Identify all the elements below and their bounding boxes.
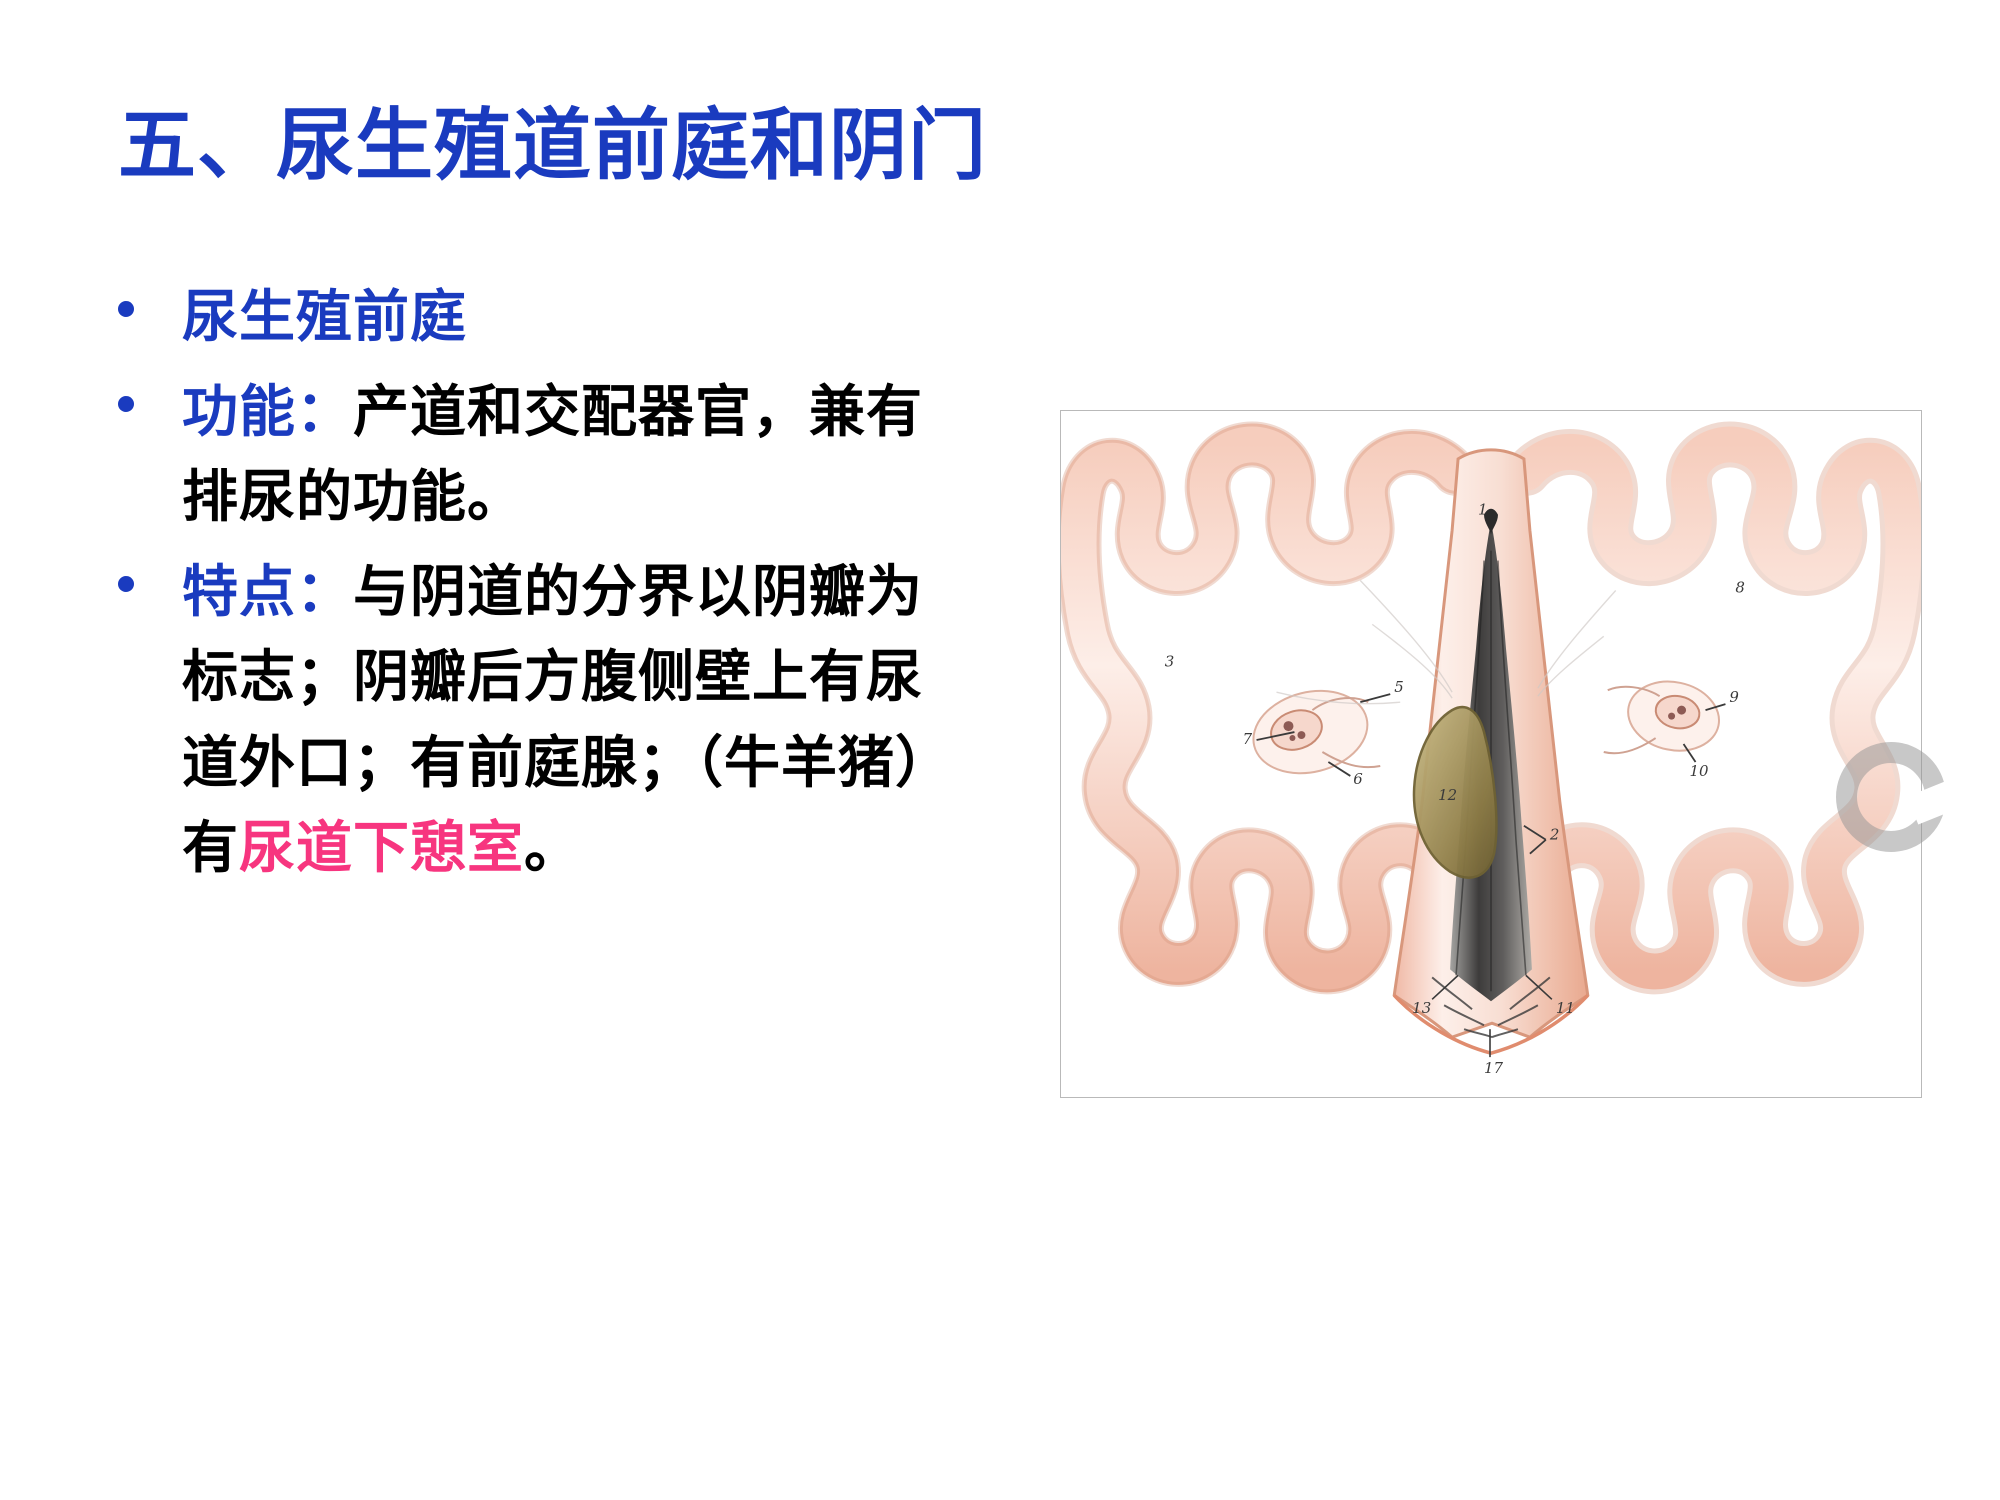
figure-label: 9 — [1729, 688, 1739, 706]
bullet-list: 尿生殖前庭 功能：产道和交配器官，兼有排尿的功能。 特点：与阴道的分界以阴瓣为标… — [118, 275, 978, 901]
page-title: 五、尿生殖道前庭和阴门 — [118, 104, 1418, 190]
figure-label: 8 — [1735, 578, 1745, 596]
list-item-label: 尿生殖前庭 — [182, 285, 467, 350]
bullet-dot-icon — [118, 275, 182, 322]
figure-label: 10 — [1690, 762, 1710, 780]
figure-label: 2 — [1549, 826, 1560, 844]
figure-label: 5 — [1394, 678, 1404, 696]
figure-label: 6 — [1353, 770, 1363, 788]
figure-label: 3 — [1165, 652, 1175, 670]
list-item-text: 功能：产道和交配器官，兼有排尿的功能。 — [182, 370, 978, 540]
figure-label: 13 — [1412, 999, 1431, 1017]
list-item-highlight: 尿道下憩室 — [239, 816, 524, 881]
figure-label: 7 — [1243, 730, 1253, 748]
list-item: 尿生殖前庭 — [118, 275, 978, 360]
uterus-anatomy-illustration: 5 7 6 3 9 10 8 — [1061, 411, 1921, 1097]
bullet-dot-icon — [118, 550, 182, 597]
bullet-dot-icon — [118, 370, 182, 417]
list-item-label: 功能： — [182, 380, 353, 445]
list-item-label: 特点： — [182, 560, 353, 625]
list-item-text: 特点：与阴道的分界以阴瓣为标志；阴瓣后方腹侧壁上有尿道外口；有前庭腺；（牛羊猪）… — [182, 550, 978, 890]
figure-label: 11 — [1556, 999, 1575, 1017]
anatomy-figure: 5 7 6 3 9 10 8 — [1060, 410, 1922, 1098]
list-item-tail: 。 — [524, 816, 581, 881]
slide-canvas: 五、尿生殖道前庭和阴门 尿生殖前庭 功能：产道和交配器官，兼有排尿的功能。 特点… — [0, 0, 2000, 1500]
list-item-text: 尿生殖前庭 — [182, 275, 978, 360]
figure-label: 12 — [1438, 786, 1457, 804]
list-item: 特点：与阴道的分界以阴瓣为标志；阴瓣后方腹侧壁上有尿道外口；有前庭腺；（牛羊猪）… — [118, 550, 978, 890]
figure-label: 17 — [1484, 1059, 1504, 1077]
figure-label: 1 — [1478, 501, 1488, 519]
list-item: 功能：产道和交配器官，兼有排尿的功能。 — [118, 370, 978, 540]
